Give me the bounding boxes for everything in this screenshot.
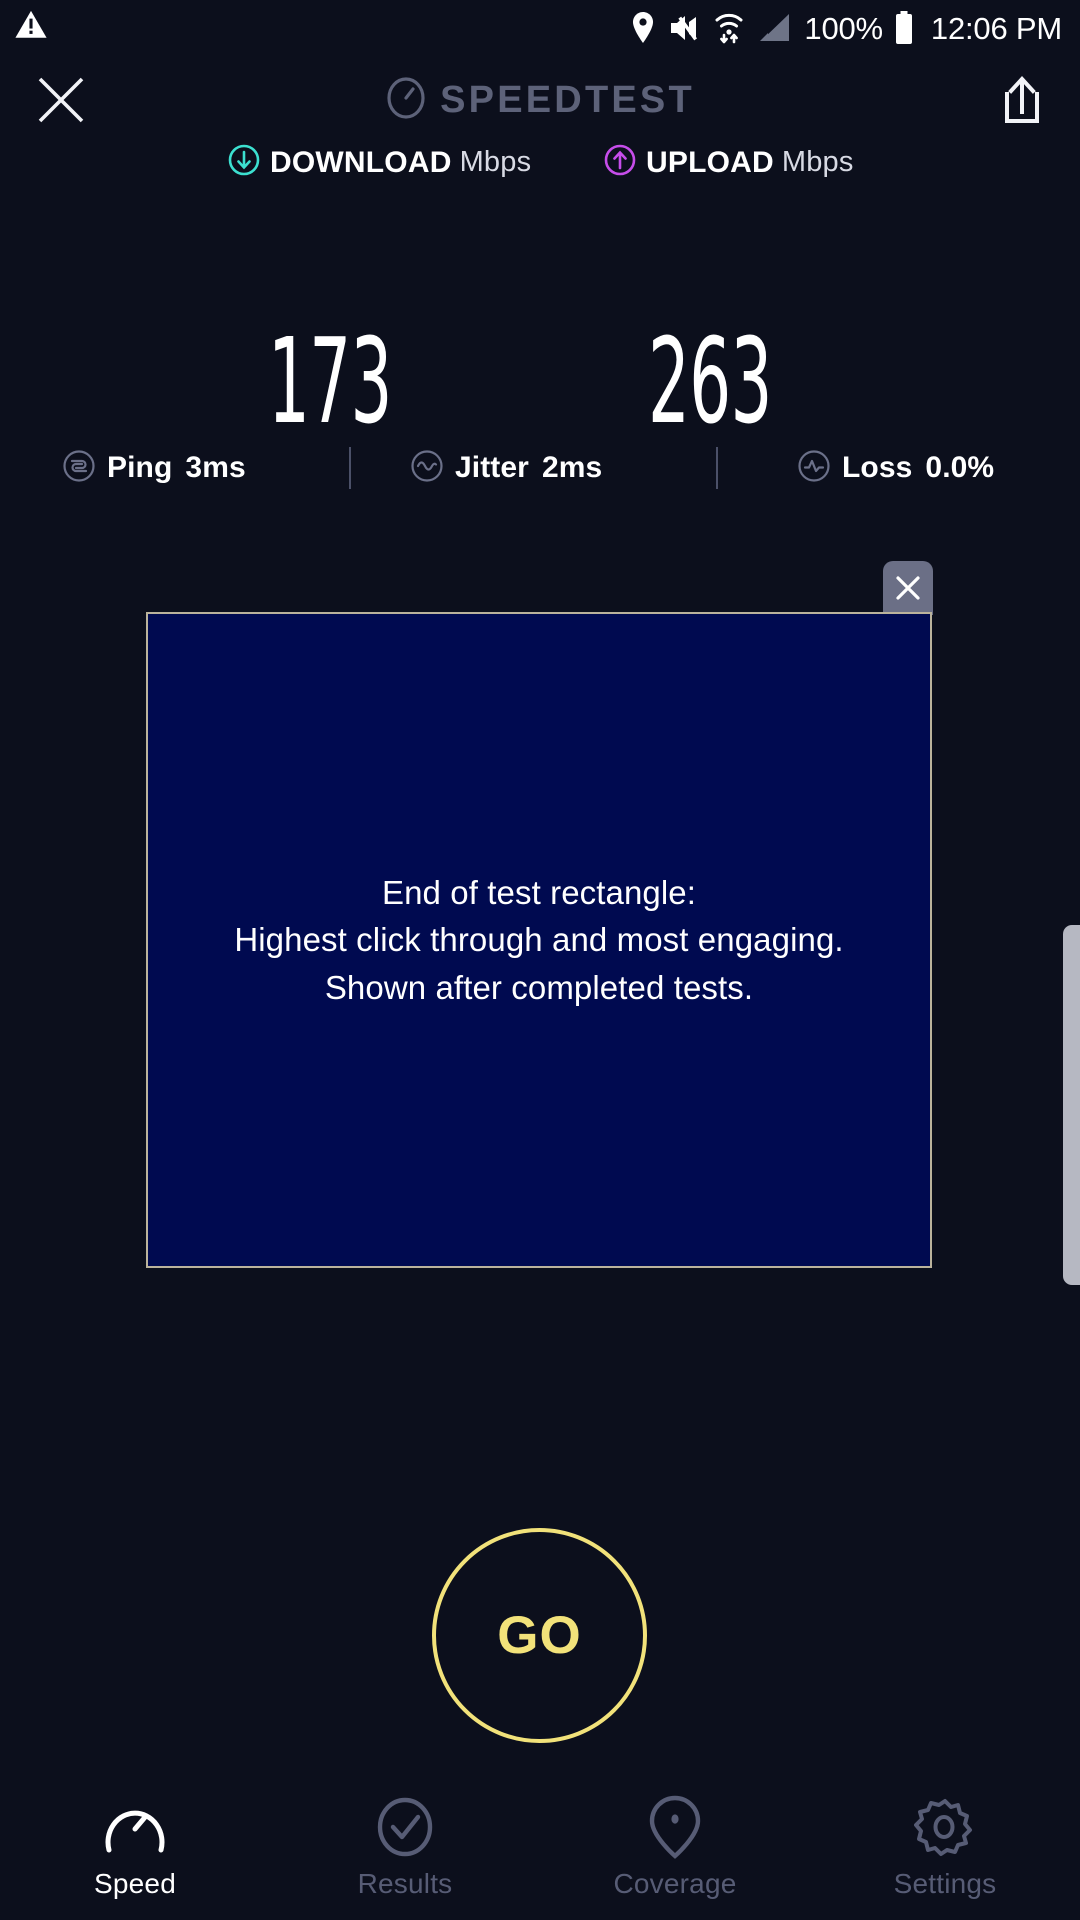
vertical-scrollbar[interactable] bbox=[1063, 925, 1080, 1285]
ping-jitter-loss-row: Ping 3ms Jitter 2ms bbox=[0, 445, 1080, 495]
warning-triangle-icon bbox=[14, 8, 48, 42]
brand-title: SPEEDTEST bbox=[440, 79, 695, 122]
divider bbox=[349, 447, 351, 489]
loss-value: 0.0% bbox=[925, 451, 994, 485]
download-value: 173 bbox=[268, 322, 392, 440]
jitter-name: Jitter bbox=[455, 451, 529, 485]
location-pin-icon bbox=[630, 12, 656, 44]
go-button[interactable]: GO bbox=[432, 1528, 647, 1743]
download-upload-labels: DOWNLOAD Mbps UPLOAD Mbps bbox=[0, 140, 1080, 186]
go-button-label: GO bbox=[497, 1605, 581, 1666]
jitter-group: Jitter 2ms bbox=[410, 445, 602, 491]
upload-label-group: UPLOAD Mbps bbox=[604, 144, 854, 181]
ping-name: Ping bbox=[107, 451, 172, 485]
nav-item-settings[interactable]: Settings bbox=[810, 1780, 1080, 1920]
download-name: DOWNLOAD bbox=[270, 146, 452, 180]
upload-name: UPLOAD bbox=[646, 146, 774, 180]
upload-unit: Mbps bbox=[782, 146, 854, 179]
battery-full-icon bbox=[894, 11, 914, 45]
status-bar-right-group: 100% 12:06 PM bbox=[630, 0, 1062, 56]
nav-label-settings: Settings bbox=[894, 1868, 997, 1900]
brand-logo: SPEEDTEST bbox=[0, 60, 1080, 140]
arrow-down-circle-icon bbox=[228, 144, 260, 181]
upload-value: 263 bbox=[648, 322, 772, 440]
divider bbox=[716, 447, 718, 489]
jitter-wave-icon bbox=[410, 449, 444, 488]
nav-item-coverage[interactable]: Coverage bbox=[540, 1780, 810, 1920]
speed-results-panel: DOWNLOAD Mbps UPLOAD Mbps 173 263 bbox=[0, 140, 1080, 186]
ping-value: 3ms bbox=[185, 451, 245, 485]
ad-close-x-icon[interactable] bbox=[883, 561, 933, 615]
download-label-group: DOWNLOAD Mbps bbox=[228, 144, 531, 181]
check-circle-icon bbox=[374, 1794, 436, 1860]
share-upload-icon[interactable] bbox=[996, 74, 1048, 128]
nav-label-speed: Speed bbox=[94, 1868, 176, 1900]
nav-item-results[interactable]: Results bbox=[270, 1780, 540, 1920]
loss-group: Loss 0.0% bbox=[797, 445, 994, 491]
ping-icon bbox=[62, 449, 96, 488]
nav-label-coverage: Coverage bbox=[613, 1868, 736, 1900]
nav-item-speed[interactable]: Speed bbox=[0, 1780, 270, 1920]
status-bar-clock: 12:06 PM bbox=[931, 13, 1062, 44]
packet-loss-icon bbox=[797, 449, 831, 488]
app-header: SPEEDTEST bbox=[0, 60, 1080, 140]
battery-percentage: 100% bbox=[804, 13, 883, 44]
wifi-transfer-icon bbox=[714, 11, 744, 45]
cellular-signal-icon bbox=[757, 13, 791, 43]
nav-label-results: Results bbox=[358, 1868, 453, 1900]
loss-name: Loss bbox=[842, 451, 912, 485]
gear-icon bbox=[914, 1794, 976, 1860]
ad-text: End of test rectangle: Highest click thr… bbox=[234, 869, 843, 1011]
map-pin-icon bbox=[649, 1794, 701, 1860]
download-unit: Mbps bbox=[460, 146, 532, 179]
speedometer-icon bbox=[102, 1794, 168, 1860]
volume-muted-icon bbox=[669, 13, 701, 43]
advertisement-banner[interactable]: End of test rectangle: Highest click thr… bbox=[146, 612, 932, 1268]
bottom-navigation-bar: Speed Results Coverage bbox=[0, 1780, 1080, 1920]
jitter-value: 2ms bbox=[542, 451, 602, 485]
speedtest-app-screen: 100% 12:06 PM SPEEDTEST bbox=[0, 0, 1080, 1920]
speedtest-gauge-icon bbox=[385, 76, 427, 125]
arrow-up-circle-icon bbox=[604, 144, 636, 181]
ping-group: Ping 3ms bbox=[62, 445, 246, 491]
status-bar: 100% 12:06 PM bbox=[0, 0, 1080, 56]
